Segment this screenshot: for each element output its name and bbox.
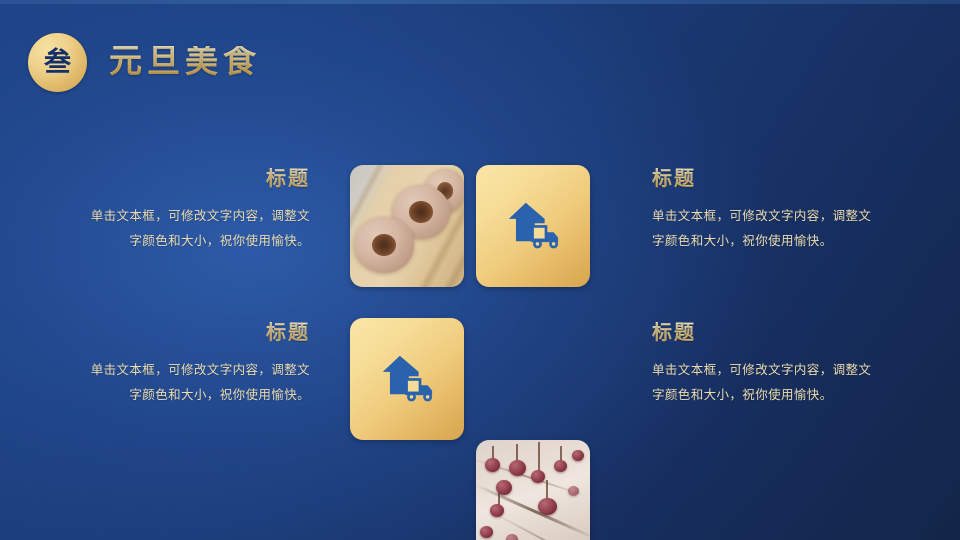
image-grid [350, 165, 590, 440]
berry [490, 504, 504, 517]
berry [509, 460, 526, 476]
slide-canvas: 叁 元旦美食 标题 单击文本框，可修改文字内容，调整文字颜色和大小，祝你使用愉快… [0, 0, 960, 540]
section-heading: 标题 [652, 322, 884, 344]
section-body: 单击文本框，可修改文字内容，调整文字颜色和大小，祝你使用愉快。 [78, 358, 310, 408]
berry [568, 486, 579, 496]
section-heading: 标题 [78, 322, 310, 344]
gallery-photo-berries[interactable] [476, 440, 590, 540]
text-block-bottom-left: 标题 单击文本框，可修改文字内容，调整文字颜色和大小，祝你使用愉快。 [78, 322, 310, 408]
section-heading: 标题 [78, 168, 310, 190]
gallery-icon-card-top[interactable] [476, 165, 590, 287]
berry [485, 458, 500, 472]
text-block-top-left: 标题 单击文本框，可修改文字内容，调整文字颜色和大小，祝你使用愉快。 [78, 168, 310, 254]
warehouse-delivery-truck-icon [504, 200, 562, 252]
warehouse-delivery-truck-icon [378, 353, 436, 405]
berry [572, 450, 584, 461]
berry [531, 470, 545, 483]
section-body: 单击文本框，可修改文字内容，调整文字颜色和大小，祝你使用愉快。 [78, 204, 310, 254]
section-body: 单击文本框，可修改文字内容，调整文字颜色和大小，祝你使用愉快。 [652, 358, 884, 408]
berry-stem [538, 442, 540, 472]
section-number-label: 叁 [44, 49, 71, 76]
text-block-top-right: 标题 单击文本框，可修改文字内容，调整文字颜色和大小，祝你使用愉快。 [652, 168, 884, 254]
berry [480, 526, 493, 538]
persimmon-fruit [354, 217, 414, 273]
page-title: 元旦美食 [109, 46, 261, 79]
slide-header: 叁 元旦美食 [28, 33, 261, 92]
section-body: 单击文本框，可修改文字内容，调整文字颜色和大小，祝你使用愉快。 [652, 204, 884, 254]
berry [496, 480, 512, 495]
gallery-icon-card-bottom[interactable] [350, 318, 464, 440]
text-block-bottom-right: 标题 单击文本框，可修改文字内容，调整文字颜色和大小，祝你使用愉快。 [652, 322, 884, 408]
top-edge-highlight [0, 0, 960, 4]
berry [538, 498, 557, 515]
section-number-badge: 叁 [28, 33, 87, 92]
gallery-photo-persimmons[interactable] [350, 165, 464, 287]
berry [506, 534, 518, 540]
berry [554, 460, 567, 472]
section-heading: 标题 [652, 168, 884, 190]
